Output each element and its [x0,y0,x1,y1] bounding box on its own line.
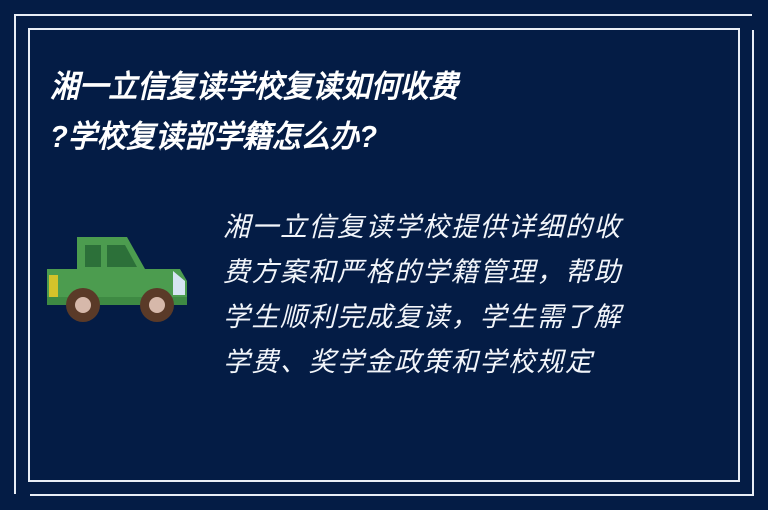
frame-corner-mask-bottom-left [0,494,30,510]
frame-corner-mask-top-right [752,0,768,30]
green-pickup-truck-icon [45,223,205,333]
body-line-2: 费方案和严格的学籍管理，帮助 [223,250,718,295]
body-line-1: 湘一立信复读学校提供详细的收 [223,205,718,250]
headline-line-2: ?学校复读部学籍怎么办? [50,112,670,162]
content-row: 湘一立信复读学校提供详细的收 费方案和严格的学籍管理，帮助 学生顺利完成复读，学… [45,205,718,385]
body-paragraph: 湘一立信复读学校提供详细的收 费方案和严格的学籍管理，帮助 学生顺利完成复读，学… [205,205,718,385]
headline-line-1: 湘一立信复读学校复读如何收费 [50,62,670,112]
body-line-4: 学费、奖学金政策和学校规定 [223,340,718,385]
truck-illustration [45,205,205,338]
body-line-3: 学生顺利完成复读，学生需了解 [223,295,718,340]
poster-canvas: 湘一立信复读学校复读如何收费 ?学校复读部学籍怎么办? [0,0,768,510]
headline: 湘一立信复读学校复读如何收费 ?学校复读部学籍怎么办? [50,62,710,162]
